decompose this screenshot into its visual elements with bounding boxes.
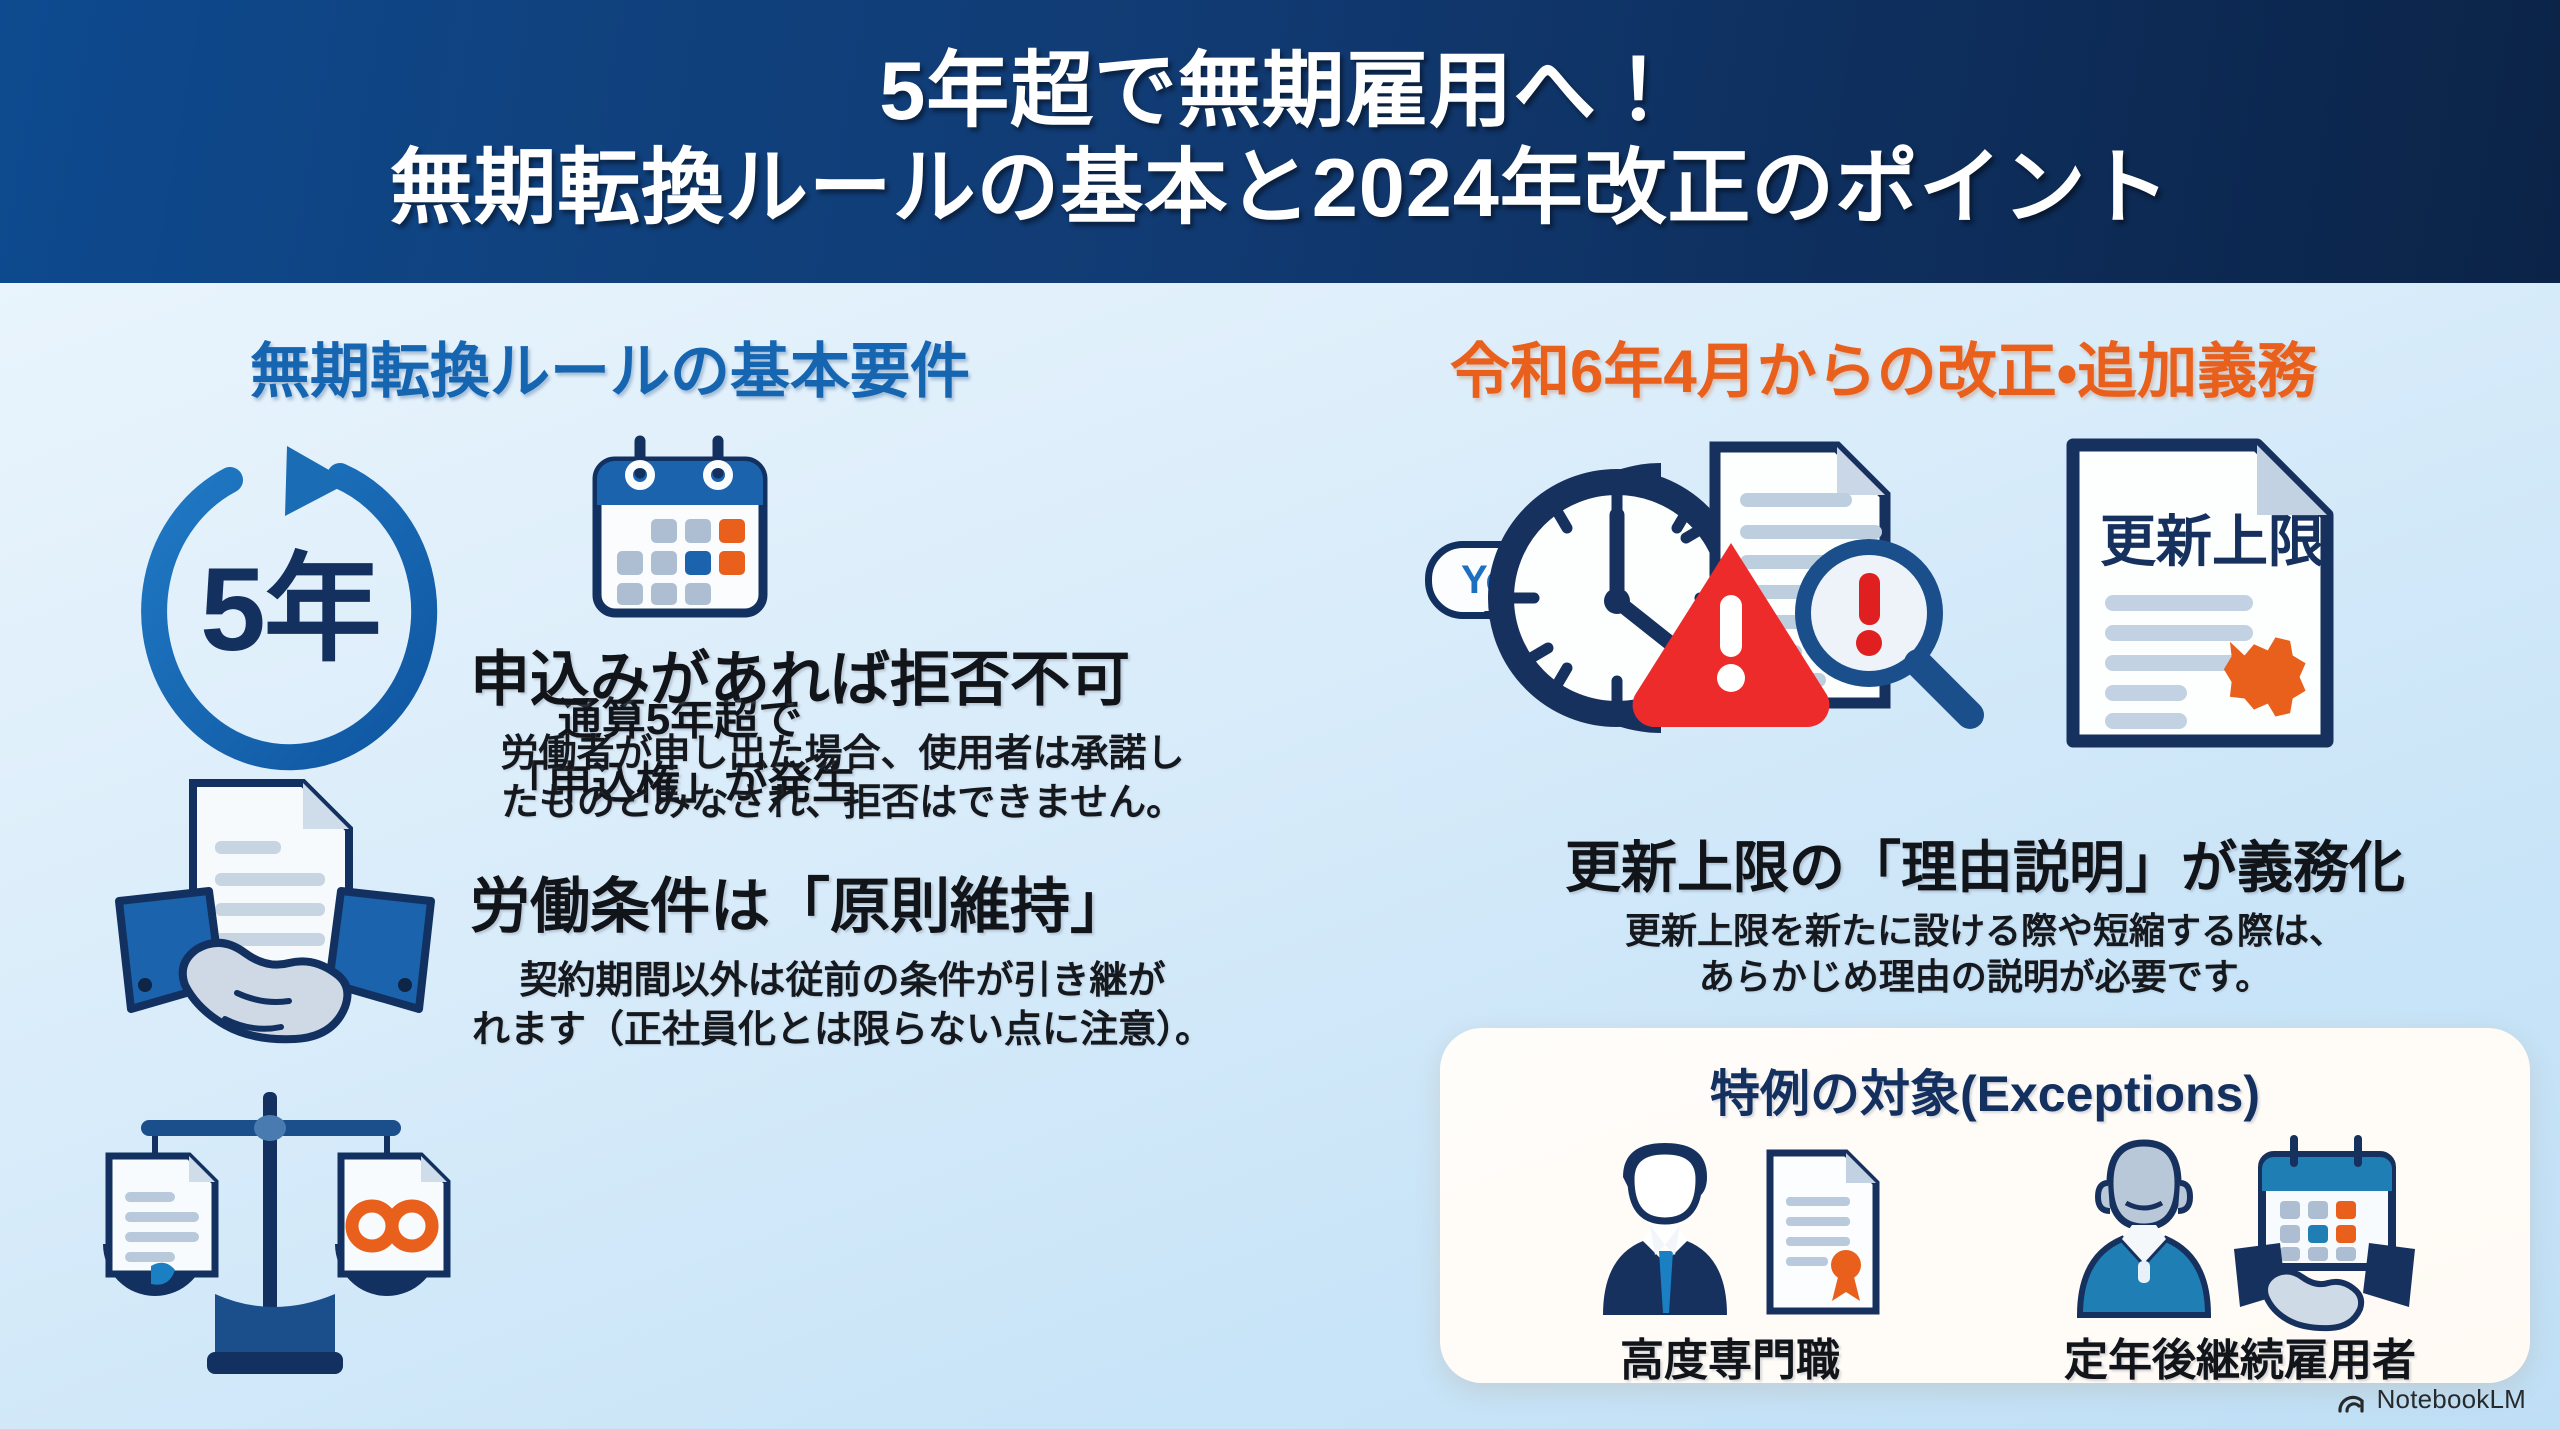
left-item-2-headline: 労働条件は「原則維持」 bbox=[470, 858, 1215, 945]
renewal-limit-document-icon: 更新上限 bbox=[2055, 433, 2345, 753]
exceptions-label-senior: 定年後継続雇用者 bbox=[2000, 1324, 2480, 1388]
calendar-handshake-icon bbox=[2232, 1133, 2417, 1318]
handshake-document-icon bbox=[105, 773, 445, 1063]
left-panel-heading: 無期転換ルールの基本要件 bbox=[250, 323, 970, 410]
right-panel-heading: 令和6年4月からの改正・追加義務 bbox=[1450, 323, 2317, 410]
content-stage: 無期転換ルールの基本要件 5年 bbox=[0, 283, 2560, 1429]
notebooklm-watermark-label: NotebookLM bbox=[2377, 1384, 2526, 1415]
page-title-line-2: 無期転換ルールの基本と2024年改正のポイント bbox=[390, 137, 2171, 238]
left-item-2-body-line-1: 契約期間以外は従前の条件が引き継が bbox=[470, 957, 1215, 1006]
left-item-1-body-line-2: たものとみなされ、拒否はできません。 bbox=[470, 779, 1215, 828]
exceptions-title: 特例の対象(Exceptions) bbox=[1440, 1054, 2530, 1126]
left-item-2-body-line-2: れます（正社員化とは限らない点に注意）。 bbox=[470, 1006, 1215, 1055]
certificate-document-icon bbox=[1762, 1143, 1882, 1318]
right-panel: 令和6年4月からの改正・追加義務 bbox=[1400, 283, 2560, 1429]
page-title-line-1: 5年超で無期雇用へ！ bbox=[879, 45, 1680, 136]
exceptions-cell-professional: 高度専門職 bbox=[1500, 1128, 1960, 1388]
left-item-1-headline: 申込みがあれば拒否不可 bbox=[470, 631, 1215, 718]
five-year-ring: 5年 bbox=[135, 438, 445, 758]
exceptions-icons-professional bbox=[1500, 1128, 1960, 1318]
left-item-2-text: 労働条件は「原則維持」 契約期間以外は従前の条件が引き継が れます（正社員化とは… bbox=[470, 858, 1215, 1054]
notebooklm-logo-icon bbox=[2336, 1387, 2366, 1413]
right-panel-body: 更新上限を新たに設ける際や短縮する際は、 あらかじめ理由の説明が必要です。 bbox=[1460, 908, 2510, 1000]
senior-person-icon bbox=[2064, 1133, 2224, 1318]
notebooklm-watermark: NotebookLM bbox=[2336, 1384, 2526, 1415]
exceptions-card: 特例の対象(Exceptions) bbox=[1440, 1028, 2530, 1383]
clock-document-alert-group-icon bbox=[1465, 433, 2025, 763]
exceptions-label-professional: 高度専門職 bbox=[1500, 1324, 1960, 1388]
exceptions-icons-senior bbox=[2000, 1128, 2480, 1318]
header-banner: 5年超で無期雇用へ！ 無期転換ルールの基本と2024年改正のポイント bbox=[0, 0, 2560, 283]
left-item-1-text: Yes 申込みがあれば拒否不可 労働者が申し出た場合、使用者は承諾し たものとみ… bbox=[470, 553, 1215, 827]
scales-balance-icon bbox=[95, 1078, 455, 1398]
professional-person-certificate-icon bbox=[1579, 1133, 1754, 1318]
right-panel-body-line-2: あらかじめ理由の説明が必要です。 bbox=[1460, 954, 2510, 1000]
exceptions-cell-senior: 定年後継続雇用者 bbox=[2000, 1128, 2480, 1388]
left-item-1-body-line-1: 労働者が申し出た場合、使用者は承諾し bbox=[470, 730, 1215, 779]
left-panel: 無期転換ルールの基本要件 5年 bbox=[0, 283, 1260, 1429]
right-panel-headline: 更新上限の「理由説明」が義務化 bbox=[1450, 823, 2520, 904]
right-panel-body-line-1: 更新上限を新たに設ける際や短縮する際は、 bbox=[1460, 908, 2510, 954]
renewal-limit-document-label: 更新上限 bbox=[2100, 510, 2324, 573]
five-year-value: 5年 bbox=[135, 438, 445, 758]
